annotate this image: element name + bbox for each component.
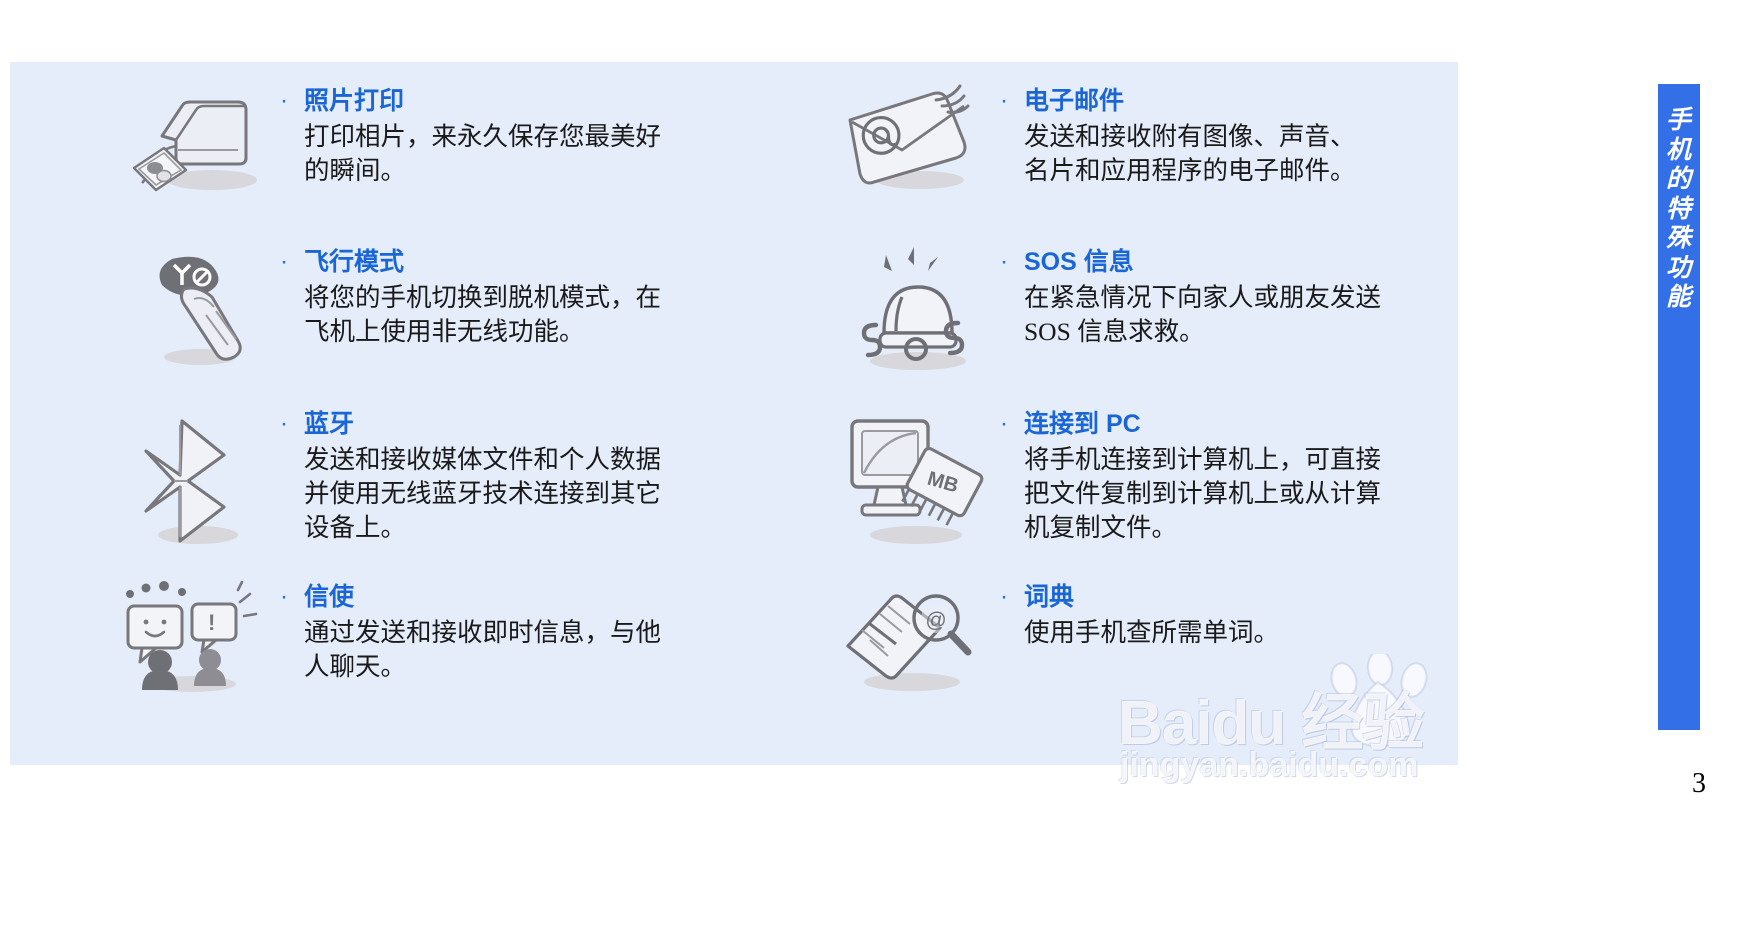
- feature-text: 连接到 PC 将手机连接到计算机上，可直接 把文件复制到计算机上或从计算 机复制…: [1024, 407, 1480, 545]
- sos-siren-icon: [840, 245, 990, 365]
- feature-title: 电子邮件: [1024, 84, 1480, 118]
- feature-bullet: ·: [270, 407, 304, 441]
- feature-description: 发送和接收媒体文件和个人数据 并使用无线蓝牙技术连接到其它 设备上。: [304, 443, 780, 545]
- feature-title: 信使: [304, 580, 780, 614]
- feature-item-photo-print[interactable]: · 照片打印 打印相片，来永久保存您最美好 的瞬间。: [120, 84, 780, 204]
- feature-title: 照片打印: [304, 84, 780, 118]
- feature-item-flight-mode[interactable]: · 飞行模式 将您的手机切换到脱机模式，在 飞机上使用非无线功能。: [120, 245, 780, 365]
- feature-description: 通过发送和接收即时信息，与他 人聊天。: [304, 616, 780, 684]
- pc-connect-icon: MB: [840, 407, 990, 527]
- feature-bullet: ·: [990, 580, 1024, 614]
- svg-text:!: !: [208, 610, 215, 635]
- feature-item-pc-connect[interactable]: MB · 连接到 PC 将手机连接到计算机上，可直接 把文件复制到计算机上或从计…: [840, 407, 1480, 545]
- feature-description: 发送和接收附有图像、声音、 名片和应用程序的电子邮件。: [1024, 120, 1480, 188]
- feature-title: 蓝牙: [304, 407, 780, 441]
- manual-page: · 照片打印 打印相片，来永久保存您最美好 的瞬间。: [0, 0, 1744, 948]
- section-tab: 手机的特殊功能: [1658, 84, 1700, 730]
- feature-item-dictionary[interactable]: @ · 词典 使用手机查所需单词。: [840, 580, 1480, 700]
- feature-text: 词典 使用手机查所需单词。: [1024, 580, 1480, 650]
- feature-bullet: ·: [990, 245, 1024, 279]
- feature-item-sos-message[interactable]: · SOS 信息 在紧急情况下向家人或朋友发送 SOS 信息求救。: [840, 245, 1480, 365]
- feature-text: SOS 信息 在紧急情况下向家人或朋友发送 SOS 信息求救。: [1024, 245, 1480, 349]
- page-number: 3: [1692, 768, 1706, 800]
- flight-mode-phone-icon: [120, 245, 270, 365]
- messenger-chat-icon: !: [120, 580, 270, 700]
- feature-bullet: ·: [270, 580, 304, 614]
- feature-bullet: ·: [270, 84, 304, 118]
- bluetooth-icon: [120, 407, 270, 527]
- feature-title: 飞行模式: [304, 245, 780, 279]
- feature-item-email[interactable]: · 电子邮件 发送和接收附有图像、声音、 名片和应用程序的电子邮件。: [840, 84, 1480, 204]
- feature-item-bluetooth[interactable]: · 蓝牙 发送和接收媒体文件和个人数据 并使用无线蓝牙技术连接到其它 设备上。: [120, 407, 780, 545]
- dictionary-book-icon: @: [840, 580, 990, 700]
- photo-printer-icon: [120, 84, 270, 204]
- feature-text: 照片打印 打印相片，来永久保存您最美好 的瞬间。: [304, 84, 780, 188]
- feature-title: SOS 信息: [1024, 245, 1480, 279]
- feature-title: 词典: [1024, 580, 1480, 614]
- feature-text: 信使 通过发送和接收即时信息，与他 人聊天。: [304, 580, 780, 684]
- section-tab-label: 手机的特殊功能: [1659, 106, 1699, 313]
- email-envelope-icon: [840, 84, 990, 204]
- feature-item-messenger[interactable]: ! · 信使 通过发送和接收即时信息，与他 人聊天。: [120, 580, 780, 700]
- feature-description: 打印相片，来永久保存您最美好 的瞬间。: [304, 120, 780, 188]
- feature-description: 将手机连接到计算机上，可直接 把文件复制到计算机上或从计算 机复制文件。: [1024, 443, 1480, 545]
- feature-bullet: ·: [990, 407, 1024, 441]
- feature-text: 飞行模式 将您的手机切换到脱机模式，在 飞机上使用非无线功能。: [304, 245, 780, 349]
- feature-title: 连接到 PC: [1024, 407, 1480, 441]
- feature-bullet: ·: [270, 245, 304, 279]
- feature-description: 使用手机查所需单词。: [1024, 616, 1480, 650]
- svg-text:@: @: [925, 609, 946, 632]
- feature-text: 蓝牙 发送和接收媒体文件和个人数据 并使用无线蓝牙技术连接到其它 设备上。: [304, 407, 780, 545]
- feature-description: 将您的手机切换到脱机模式，在 飞机上使用非无线功能。: [304, 281, 780, 349]
- feature-description: 在紧急情况下向家人或朋友发送 SOS 信息求救。: [1024, 281, 1480, 349]
- feature-bullet: ·: [990, 84, 1024, 118]
- feature-text: 电子邮件 发送和接收附有图像、声音、 名片和应用程序的电子邮件。: [1024, 84, 1480, 188]
